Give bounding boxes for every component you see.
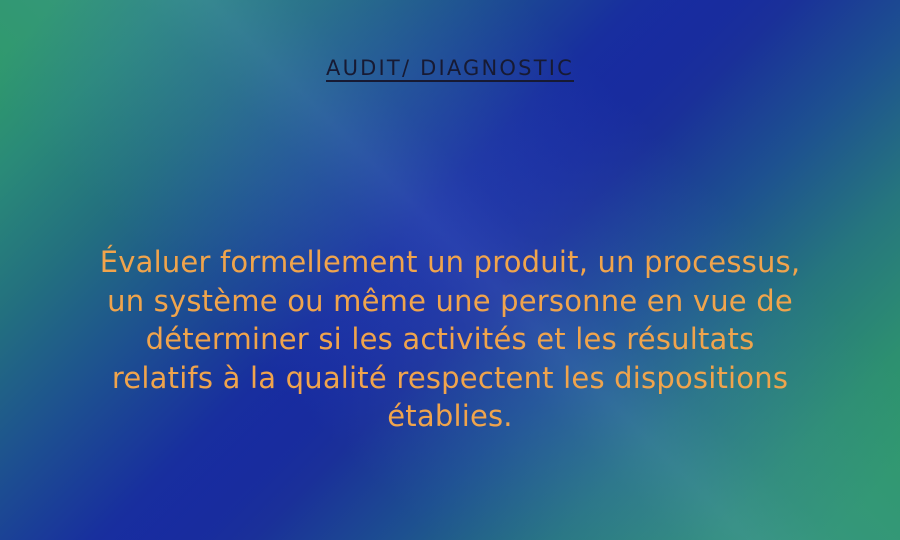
body-line: un système ou même une personne en vue d…	[48, 282, 852, 321]
body-line: relatifs à la qualité respectent les dis…	[48, 359, 852, 398]
slide-title: AUDIT/ DIAGNOSTIC	[0, 56, 900, 80]
presentation-slide: AUDIT/ DIAGNOSTIC Évaluer formellement u…	[0, 0, 900, 540]
body-line: déterminer si les activités et les résul…	[48, 320, 852, 359]
slide-body-text: Évaluer formellement un produit, un proc…	[48, 243, 852, 436]
body-line: Évaluer formellement un produit, un proc…	[48, 243, 852, 282]
body-line: établies.	[48, 397, 852, 436]
